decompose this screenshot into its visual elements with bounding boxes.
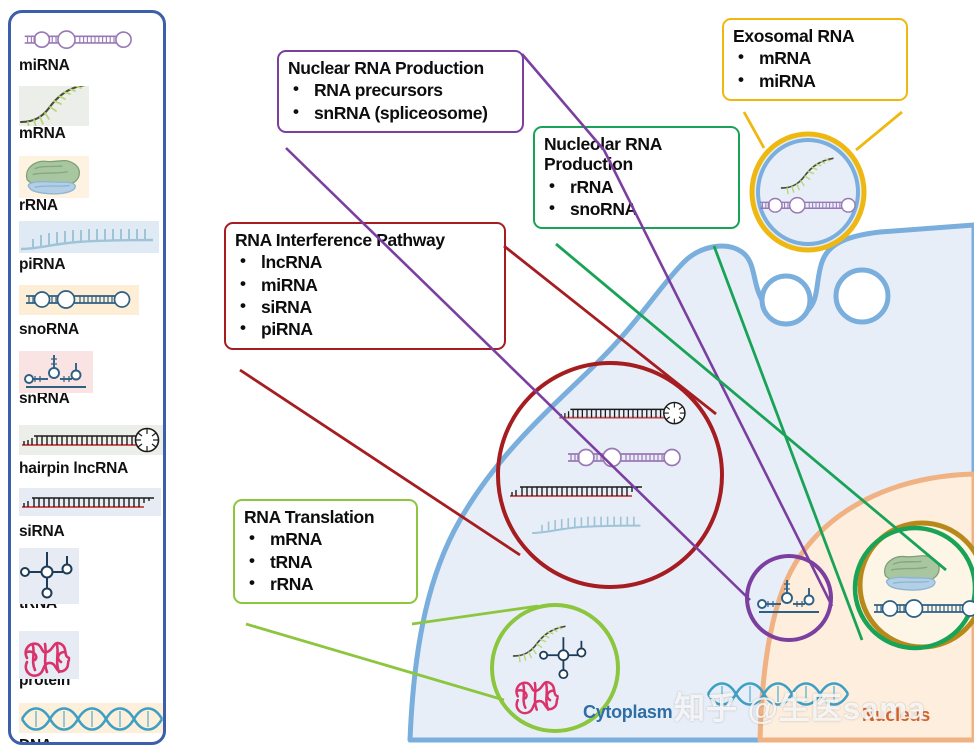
callout-item: mRNA (244, 528, 406, 550)
callout-list: mRNA miRNA (733, 47, 896, 92)
callout-item: mRNA (733, 47, 896, 69)
callout-item: miRNA (235, 274, 494, 296)
callout-item: miRNA (733, 70, 896, 92)
callout-nuclear-rna-production[interactable]: Nuclear RNA Production RNA precursors sn… (277, 50, 524, 133)
callout-item: lncRNA (235, 251, 494, 273)
callout-list: RNA precursors snRNA (spliceosome) (288, 79, 512, 124)
callout-title: Nucleolar RNA Production (544, 134, 728, 175)
callout-title: RNA Translation (244, 507, 406, 527)
callout-nucleolar-rna-production[interactable]: Nucleolar RNA Production rRNA snoRNA (533, 126, 740, 229)
callout-item: piRNA (235, 318, 494, 340)
callout-list: rRNA snoRNA (544, 176, 728, 221)
callout-item: tRNA (244, 551, 406, 573)
callout-title: RNA Interference Pathway (235, 230, 494, 250)
callout-item: RNA precursors (288, 79, 512, 101)
exosome-vesicle (752, 134, 864, 250)
watermark: 知乎 @生医sama (674, 683, 926, 728)
callout-item: snoRNA (544, 198, 728, 220)
cytoplasm-label: Cytoplasm (583, 702, 672, 723)
callout-item: snRNA (spliceosome) (288, 102, 512, 124)
callout-title: Exosomal RNA (733, 26, 896, 46)
callout-item: rRNA (544, 176, 728, 198)
callout-title: Nuclear RNA Production (288, 58, 512, 78)
callout-rna-translation[interactable]: RNA Translation mRNA tRNA rRNA (233, 499, 418, 604)
diagram-canvas: miRNA mRNA rRNA piRNA snoRNA (0, 0, 974, 753)
callout-list: mRNA tRNA rRNA (244, 528, 406, 595)
callout-rna-interference-pathway[interactable]: RNA Interference Pathway lncRNA miRNA si… (224, 222, 506, 350)
callout-exosomal-rna[interactable]: Exosomal RNA mRNA miRNA (722, 18, 908, 101)
callout-item: rRNA (244, 573, 406, 595)
callout-list: lncRNA miRNA siRNA piRNA (235, 251, 494, 341)
callout-item: siRNA (235, 296, 494, 318)
